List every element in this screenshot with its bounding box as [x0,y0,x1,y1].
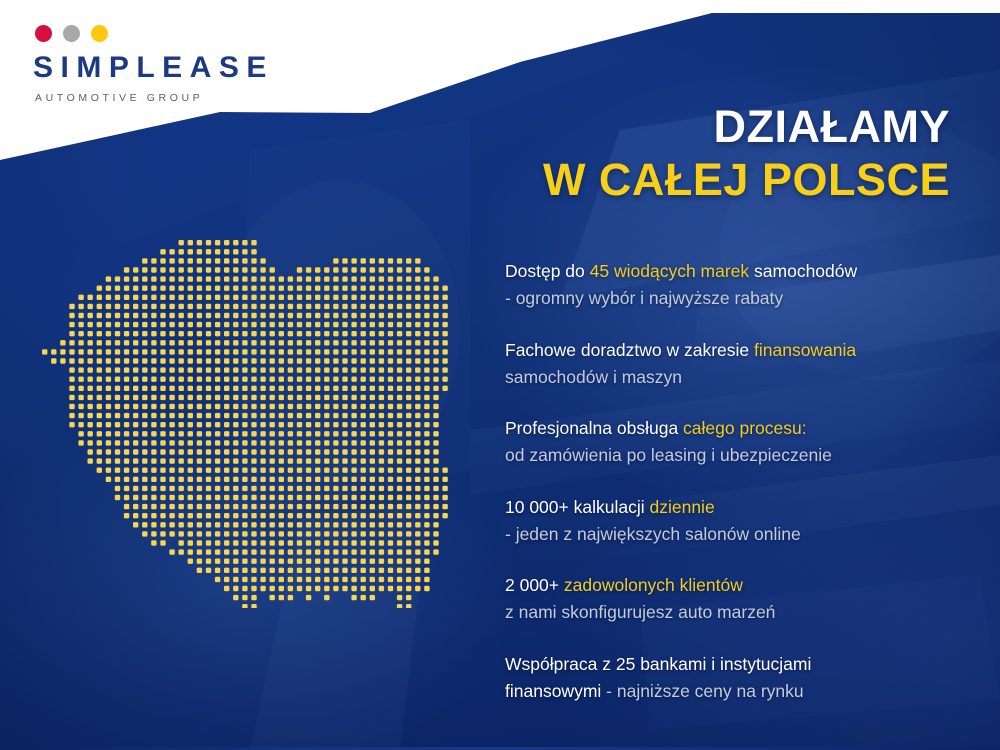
brand-name: SIMPLEASE [33,53,274,83]
feature-item: Współpraca z 25 bankami i instytucjamifi… [505,651,965,705]
feature-line-secondary: finansowymi - najniższe ceny na rynku [505,678,965,704]
headline-line-1: DZIAŁAMY [543,104,950,151]
feature-text: Dostęp do [505,261,590,281]
yellow-dot-icon [91,25,108,42]
feature-text: samochodów [749,261,857,281]
feature-item: Dostęp do 45 wiodących marek samochodów-… [505,258,965,312]
poland-dotted-map [40,238,450,608]
feature-text: - najniższe ceny na rynku [601,681,803,701]
brand-logo: SIMPLEASE AUTOMOTIVE GROUP [31,25,274,104]
feature-text: Profesjonalna obsługa [505,418,683,438]
feature-line-primary: Dostęp do 45 wiodących marek samochodów [505,258,965,284]
feature-line-secondary: - ogromny wybór i najwyższe rabaty [505,285,965,311]
feature-text: 2 000+ [505,575,564,595]
feature-item: 10 000+ kalkulacji dziennie- jeden z naj… [505,494,965,548]
feature-highlight: 45 wiodących marek [590,261,750,281]
feature-list: Dostęp do 45 wiodących marek samochodów-… [505,258,965,704]
feature-text: Fachowe doradztwo w zakresie [505,340,754,360]
headline-block: DZIAŁAMY W CAŁEJ POLSCE [543,104,950,204]
feature-highlight: całego procesu: [683,418,807,438]
feature-text: 10 000+ kalkulacji [505,497,649,517]
feature-text: - jeden z największych salonów online [505,524,801,544]
feature-item: Profesjonalna obsługa całego procesu:od … [505,415,965,469]
infographic-slide: SIMPLEASE AUTOMOTIVE GROUP DZIAŁAMY W CA… [0,0,1000,750]
headline-line-2: W CAŁEJ POLSCE [543,157,950,204]
feature-highlight: dziennie [649,497,714,517]
feature-line-primary: 2 000+ zadowolonych klientów [505,572,965,598]
feature-highlight: zadowolonych klientów [564,575,743,595]
feature-text: z nami skonfigurujesz auto marzeń [505,602,775,622]
feature-line-primary: Współpraca z 25 bankami i instytucjami [505,651,965,677]
feature-line-secondary: z nami skonfigurujesz auto marzeń [505,599,965,625]
feature-line-primary: 10 000+ kalkulacji dziennie [505,494,965,520]
gray-dot-icon [63,25,80,42]
feature-highlight: finansowania [754,340,856,360]
feature-item: Fachowe doradztwo w zakresie finansowani… [505,337,965,391]
feature-line-secondary: od zamówienia po leasing i ubezpieczenie [505,442,965,468]
feature-item: 2 000+ zadowolonych klientówz nami skonf… [505,572,965,626]
feature-text: samochodów i maszyn [505,367,682,387]
logo-dot-row [35,25,274,42]
feature-text: - ogromny wybór i najwyższe rabaty [505,288,783,308]
feature-line-secondary: - jeden z największych salonów online [505,521,965,547]
feature-line-primary: Profesjonalna obsługa całego procesu: [505,415,965,441]
brand-tagline: AUTOMOTIVE GROUP [35,92,274,104]
red-dot-icon [35,25,52,42]
feature-line-secondary: samochodów i maszyn [505,364,965,390]
feature-text-strong: finansowymi [505,681,601,701]
feature-text: Współpraca z 25 bankami i instytucjami [505,654,811,674]
feature-text: od zamówienia po leasing i ubezpieczenie [505,445,832,465]
feature-line-primary: Fachowe doradztwo w zakresie finansowani… [505,337,965,363]
